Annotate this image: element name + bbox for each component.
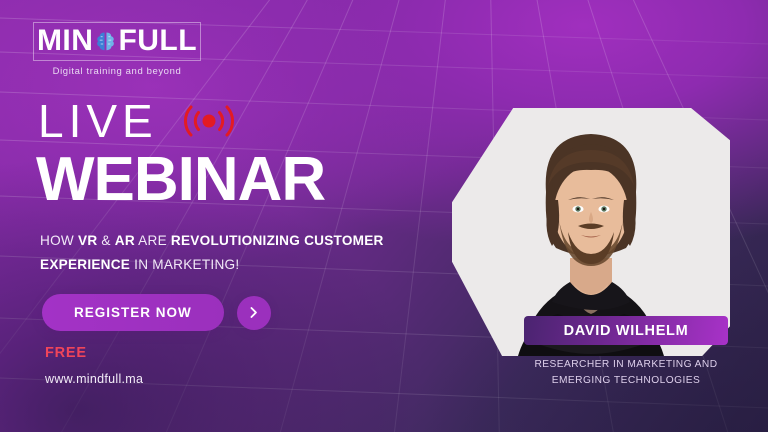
- brand-tagline: Digital training and beyond: [33, 66, 201, 77]
- register-now-button[interactable]: REGISTER NOW: [42, 294, 224, 331]
- broadcast-signal-icon: [180, 100, 238, 142]
- live-eyebrow-row: LIVE: [38, 98, 238, 144]
- subtitle-seg-4: IN MARKETING!: [130, 257, 239, 272]
- webinar-promo-banner: MIN FULL Digital training and beyond LIV…: [0, 0, 768, 432]
- cta-row: REGISTER NOW: [42, 294, 271, 331]
- speaker-role-line-1: RESEARCHER IN MARKETING AND: [512, 357, 740, 373]
- price-badge: FREE: [45, 345, 87, 361]
- brand-logo[interactable]: MIN FULL Digital training and beyond: [33, 22, 201, 77]
- subtitle-seg-2: &: [97, 233, 114, 248]
- live-label: LIVE: [38, 98, 158, 144]
- subtitle-seg-3: ARE: [135, 233, 171, 248]
- subtitle-bold-ar: AR: [115, 233, 135, 248]
- logo-text-full: FULL: [118, 26, 197, 56]
- brain-icon: [94, 30, 117, 56]
- logo-text-min: MIN: [37, 26, 94, 56]
- speaker-role: RESEARCHER IN MARKETING AND EMERGING TEC…: [512, 357, 740, 389]
- subtitle-seg-1: HOW: [40, 233, 78, 248]
- speaker-name: DAVID WILHELM: [564, 323, 689, 339]
- website-url[interactable]: www.mindfull.ma: [45, 372, 143, 386]
- cta-next-button[interactable]: [237, 296, 271, 330]
- page-title: WEBINAR: [36, 147, 325, 212]
- subtitle-bold-vr: VR: [78, 233, 97, 248]
- speaker-name-bar: DAVID WILHELM: [524, 316, 728, 345]
- chevron-right-icon: [246, 305, 261, 320]
- speaker-role-line-2: EMERGING TECHNOLOGIES: [512, 373, 740, 389]
- webinar-subtitle: HOW VR & AR ARE REVOLUTIONIZING CUSTOMER…: [40, 229, 440, 277]
- logo-frame: MIN FULL: [33, 22, 201, 61]
